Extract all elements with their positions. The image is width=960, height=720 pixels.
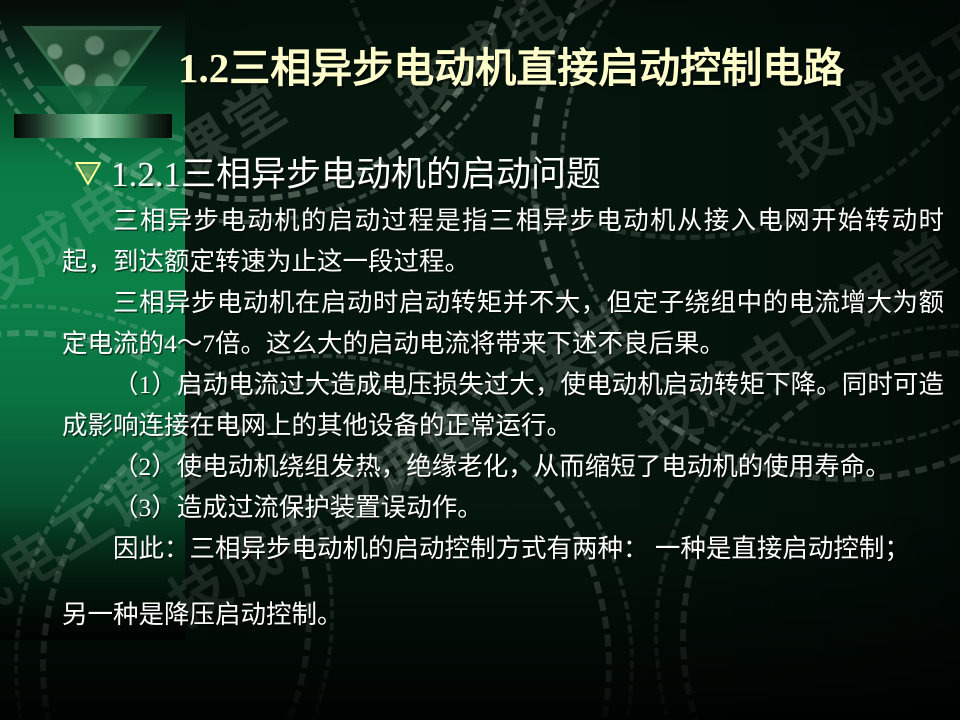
paragraph: 三相异步电动机的启动过程是指三相异步电动机从接入电网开始转动时起，到达额定转速为…: [62, 200, 944, 282]
paragraph: （2）使电动机绕组发热，绝缘老化，从而缩短了电动机的使用寿命。: [62, 446, 944, 487]
page-title: 1.2三相异步电动机直接启动控制电路: [178, 34, 844, 94]
paragraph: （1）启动电流过大造成电压损失过大，使电动机启动转矩下降。同时可造成影响连接在电…: [62, 364, 944, 446]
paragraph: 另一种是降压启动控制。: [62, 594, 944, 635]
section-heading: 1.2.1三相异步电动机的启动问题: [74, 146, 601, 197]
paragraph: 三相异步电动机在启动时启动转矩并不大，但定子绕组中的电流增大为额定电流的4～7倍…: [62, 282, 944, 364]
section-heading-label: 1.2.1三相异步电动机的启动问题: [111, 146, 601, 197]
slide-canvas: 技成电工课堂 技成电工课堂 技成电工课堂 技成电工课堂 技成电工课堂 技成电工课…: [0, 0, 960, 720]
chevron-down-icon: [74, 158, 102, 186]
paragraph: 因此：三相异步电动机的启动控制方式有两种： 一种是直接启动控制；: [62, 528, 944, 569]
body-content: 三相异步电动机的启动过程是指三相异步电动机从接入电网开始转动时起，到达额定转速为…: [62, 200, 944, 635]
paragraph: （3）造成过流保护装置误动作。: [62, 487, 944, 528]
